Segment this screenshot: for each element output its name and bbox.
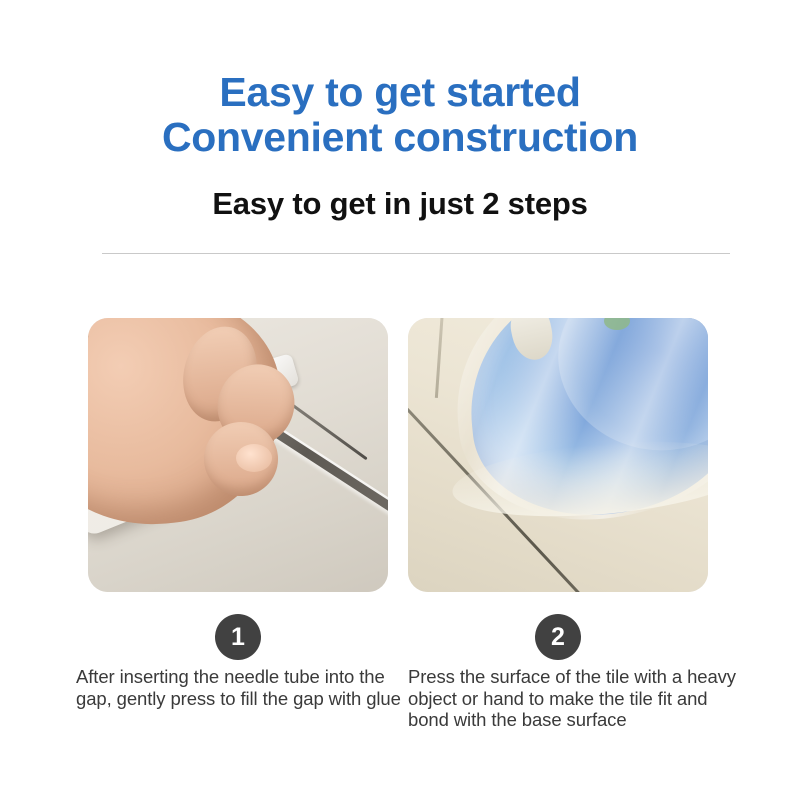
product-infographic: Easy to get started Convenient construct… [0, 0, 800, 800]
step-badge-1: 1 [215, 614, 261, 660]
step-caption-2: Press the surface of the tile with a hea… [408, 666, 752, 731]
step-1-photo: EMPTI AGENT 填缝空鼓修复 [88, 318, 388, 592]
page-title: Easy to get started Convenient construct… [0, 70, 800, 160]
headline-line-1: Easy to get started [0, 70, 800, 115]
step-2-photo [408, 318, 708, 592]
section-divider [102, 253, 730, 254]
page-subtitle: Easy to get in just 2 steps [0, 186, 800, 222]
step-badge-2: 2 [535, 614, 581, 660]
headline-line-2: Convenient construction [0, 115, 800, 160]
step-caption-1: After inserting the needle tube into the… [76, 666, 412, 709]
step-item-1: EMPTI AGENT 填缝空鼓修复 1 After inserting the… [88, 318, 388, 758]
step-item-2: 2 Press the surface of the tile with a h… [408, 318, 708, 758]
thumbnail [236, 444, 272, 472]
steps-container: EMPTI AGENT 填缝空鼓修复 1 After inserting the… [88, 318, 712, 758]
